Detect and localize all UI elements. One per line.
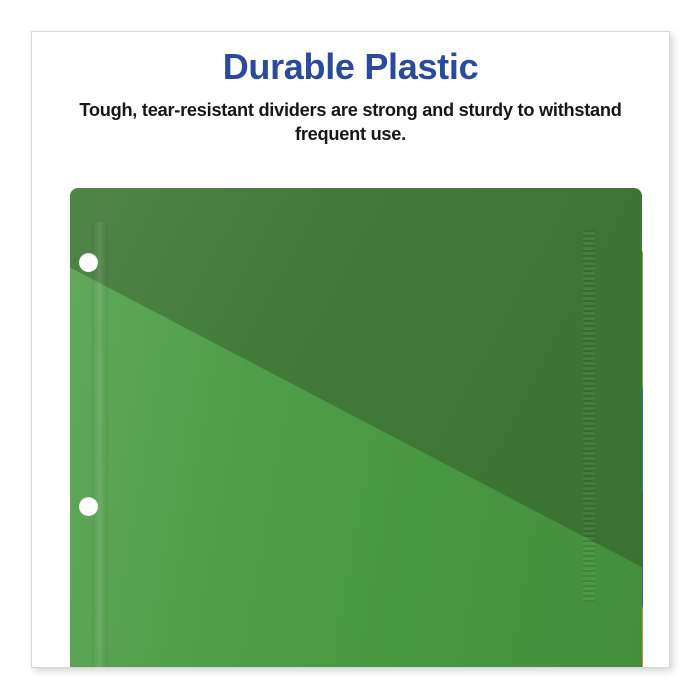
headline-block: Durable Plastic Tough, tear-resistant di… xyxy=(32,48,669,146)
page-subtitle: Tough, tear-resistant dividers are stron… xyxy=(66,98,636,146)
page-title: Durable Plastic xyxy=(32,48,669,87)
binding-reinforcement-strip xyxy=(92,222,108,668)
punch-hole-top xyxy=(79,253,98,272)
product-feature-card: Durable Plastic Tough, tear-resistant di… xyxy=(31,31,670,668)
tab-edge-ribbing xyxy=(583,230,595,602)
punch-hole-bottom xyxy=(79,497,98,516)
